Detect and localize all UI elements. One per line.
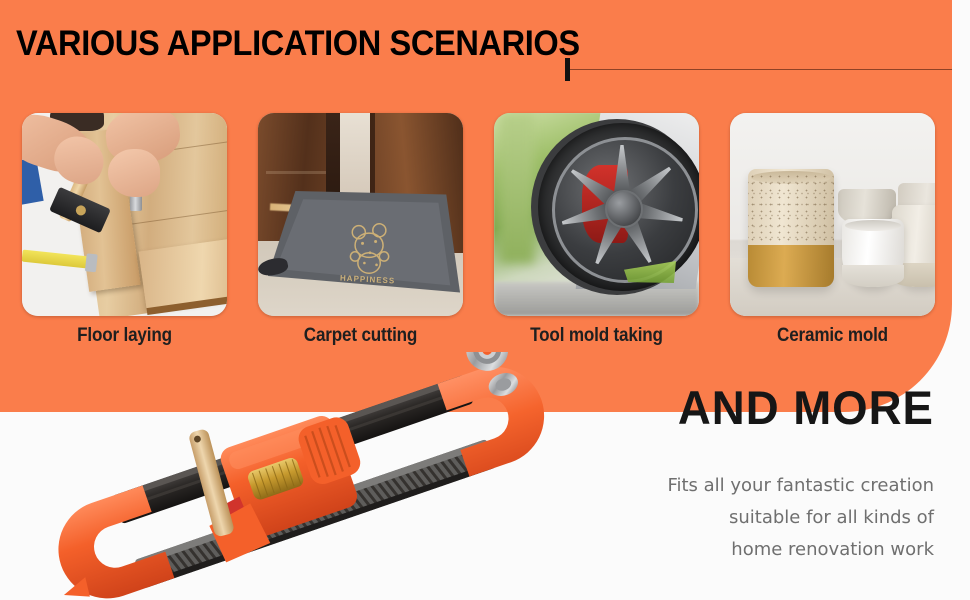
photo-car-wheel [494, 113, 699, 316]
scenario-card-floor-laying[interactable] [22, 113, 227, 316]
scenario-card-carpet-cutting[interactable]: HAPPINESS [258, 113, 463, 316]
card-caption-carpet-cutting: Carpet cutting [268, 325, 453, 347]
promo-heading: AND MORE [678, 382, 934, 434]
header-divider-line [570, 69, 952, 70]
card-caption-floor-laying: Floor laying [32, 325, 217, 347]
scenario-card-grid: HAPPINESS [0, 113, 952, 363]
photo-ceramic-pots [730, 113, 935, 316]
card-caption-tool-mold-taking: Tool mold taking [504, 325, 689, 347]
scenario-card-tool-mold-taking[interactable] [494, 113, 699, 316]
header: VARIOUS APPLICATION SCENARIOS [0, 22, 952, 70]
promo-subcopy-line-2: suitable for all kinds of [594, 502, 934, 534]
product-image-contour-gauge [0, 352, 600, 600]
promo-subcopy-line-3: home renovation work [594, 534, 934, 566]
scenario-card-ceramic-mold[interactable] [730, 113, 935, 316]
photo-carpet-cutting: HAPPINESS [258, 113, 463, 316]
bear-print-icon [342, 221, 398, 277]
page-title: VARIOUS APPLICATION SCENARIOS [16, 22, 580, 66]
photo-floor-laying [22, 113, 227, 316]
marketing-banner: VARIOUS APPLICATION SCENARIOS [0, 0, 970, 600]
promo-subcopy: Fits all your fantastic creation suitabl… [594, 470, 934, 566]
promo-subcopy-line-1: Fits all your fantastic creation [594, 470, 934, 502]
card-caption-ceramic-mold: Ceramic mold [740, 325, 925, 347]
